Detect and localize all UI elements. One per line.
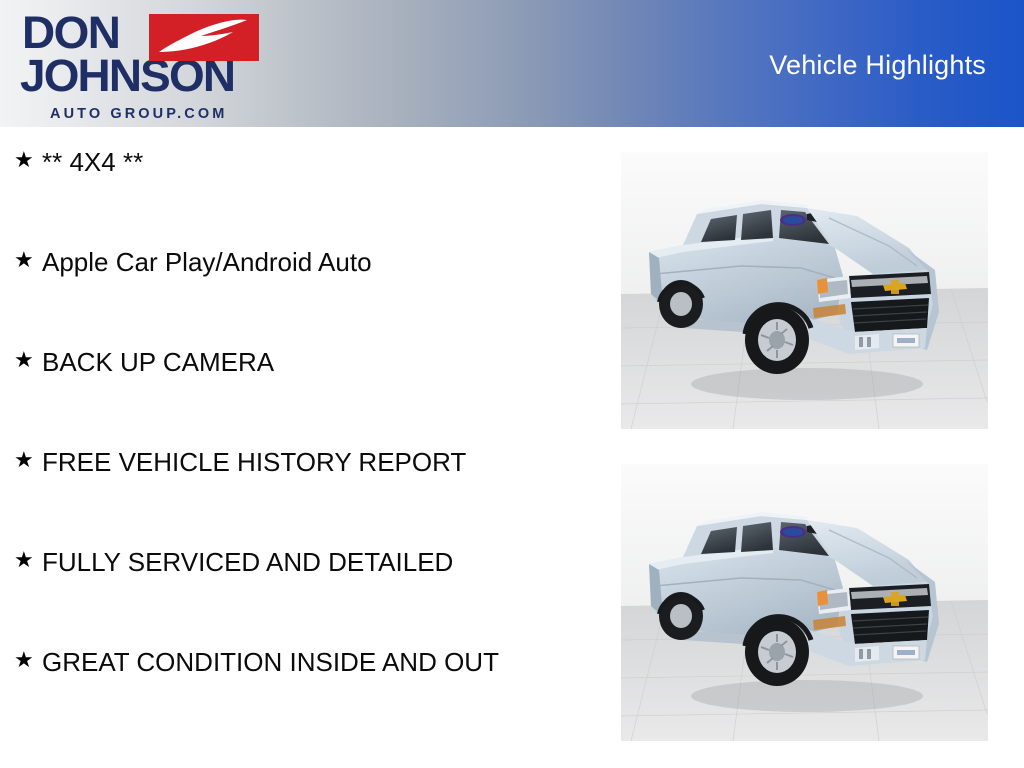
star-icon: ★	[14, 445, 42, 475]
highlights-list: ★ ** 4X4 ** ★ Apple Car Play/Android Aut…	[0, 145, 600, 745]
page-title: Vehicle Highlights	[769, 50, 986, 81]
dealer-logo[interactable]: DON JOHNSON AUTO GROUP.COM	[10, 6, 262, 126]
list-item-label: GREAT CONDITION INSIDE AND OUT	[42, 645, 542, 679]
list-item: ★ ** 4X4 **	[0, 145, 600, 245]
list-item-label: Apple Car Play/Android Auto	[42, 245, 542, 279]
list-item: ★ BACK UP CAMERA	[0, 345, 600, 445]
list-item-label: ** 4X4 **	[42, 145, 542, 179]
logo-swoosh-icon	[149, 14, 259, 61]
star-icon: ★	[14, 145, 42, 175]
list-item: ★ FULLY SERVICED AND DETAILED	[0, 545, 600, 645]
star-icon: ★	[14, 645, 42, 675]
list-item-label: FULLY SERVICED AND DETAILED	[42, 545, 542, 579]
page-header: DON JOHNSON AUTO GROUP.COM Vehicle Highl…	[0, 0, 1024, 127]
vehicle-highlights-page: DON JOHNSON AUTO GROUP.COM Vehicle Highl…	[0, 0, 1024, 768]
list-item: ★ FREE VEHICLE HISTORY REPORT	[0, 445, 600, 545]
list-item-label: BACK UP CAMERA	[42, 345, 542, 379]
star-icon: ★	[14, 245, 42, 275]
vehicle-photo[interactable]	[621, 152, 988, 429]
vehicle-photo[interactable]	[621, 464, 988, 741]
star-icon: ★	[14, 345, 42, 375]
list-item-label: FREE VEHICLE HISTORY REPORT	[42, 445, 542, 479]
logo-tagline: AUTO GROUP.COM	[50, 106, 227, 122]
star-icon: ★	[14, 545, 42, 575]
list-item: ★ Apple Car Play/Android Auto	[0, 245, 600, 345]
list-item: ★ GREAT CONDITION INSIDE AND OUT	[0, 645, 600, 745]
